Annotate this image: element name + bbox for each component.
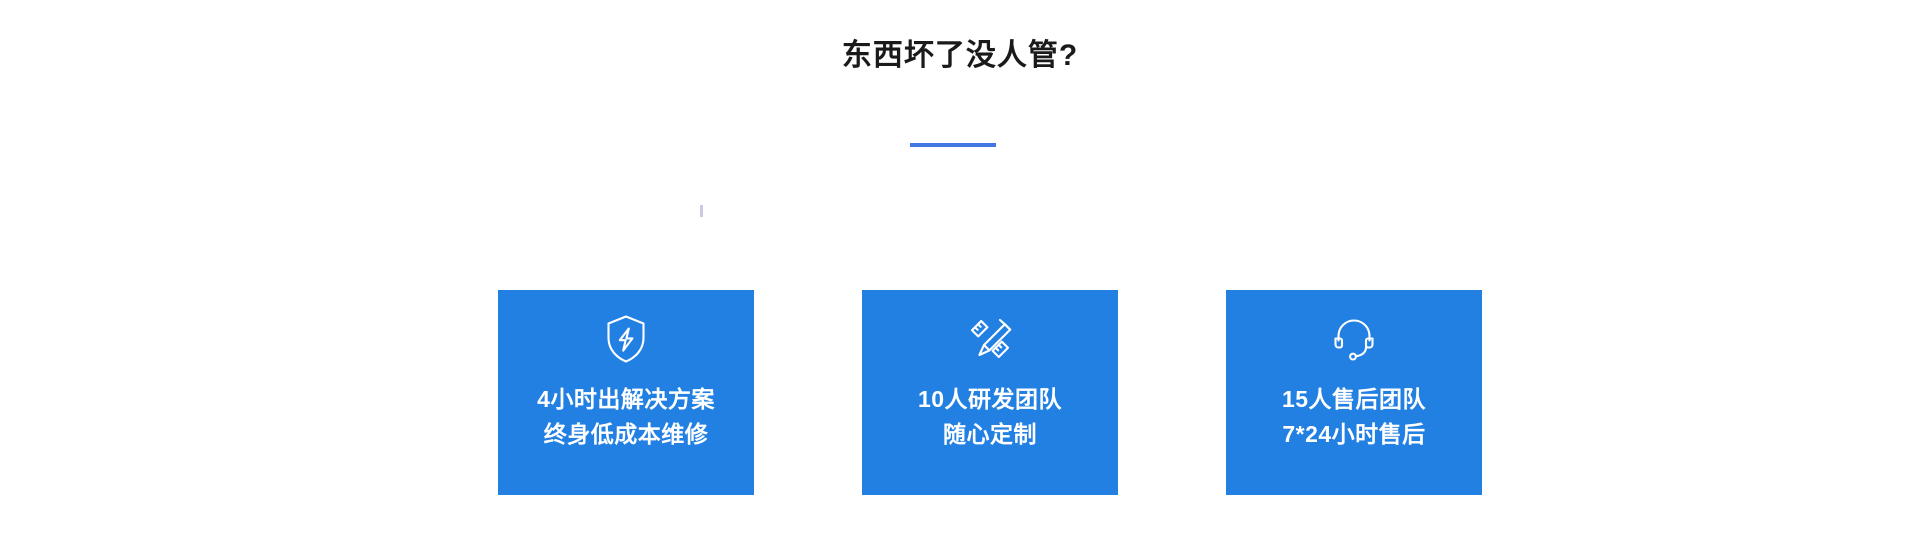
feature-card-text: 4小时出解决方案 终身低成本维修 xyxy=(537,382,715,452)
stray-artifact-mark xyxy=(700,205,703,217)
feature-card-support[interactable]: 15人售后团队 7*24小时售后 xyxy=(1226,290,1482,495)
feature-card-line2: 7*24小时售后 xyxy=(1282,417,1426,452)
pencil-ruler-icon xyxy=(963,312,1017,366)
feature-card-text: 15人售后团队 7*24小时售后 xyxy=(1282,382,1426,452)
feature-card-line1: 10人研发团队 xyxy=(918,382,1062,417)
page-title: 东西坏了没人管? xyxy=(0,34,1920,78)
feature-card-rnd[interactable]: 10人研发团队 随心定制 xyxy=(862,290,1118,495)
feature-card-solution[interactable]: 4小时出解决方案 终身低成本维修 xyxy=(498,290,754,495)
feature-card-line2: 随心定制 xyxy=(918,417,1062,452)
feature-card-line1: 15人售后团队 xyxy=(1282,382,1426,417)
feature-card-line2: 终身低成本维修 xyxy=(537,417,715,452)
headset-icon xyxy=(1327,312,1381,366)
feature-card-line1: 4小时出解决方案 xyxy=(537,382,715,417)
feature-card-list: 4小时出解决方案 终身低成本维修 xyxy=(498,290,1480,495)
page-root: 东西坏了没人管? 4小时出解决方案 终身低成本维修 xyxy=(0,0,1920,554)
title-divider xyxy=(910,143,996,147)
shield-bolt-icon xyxy=(599,312,653,366)
feature-card-text: 10人研发团队 随心定制 xyxy=(918,382,1062,452)
